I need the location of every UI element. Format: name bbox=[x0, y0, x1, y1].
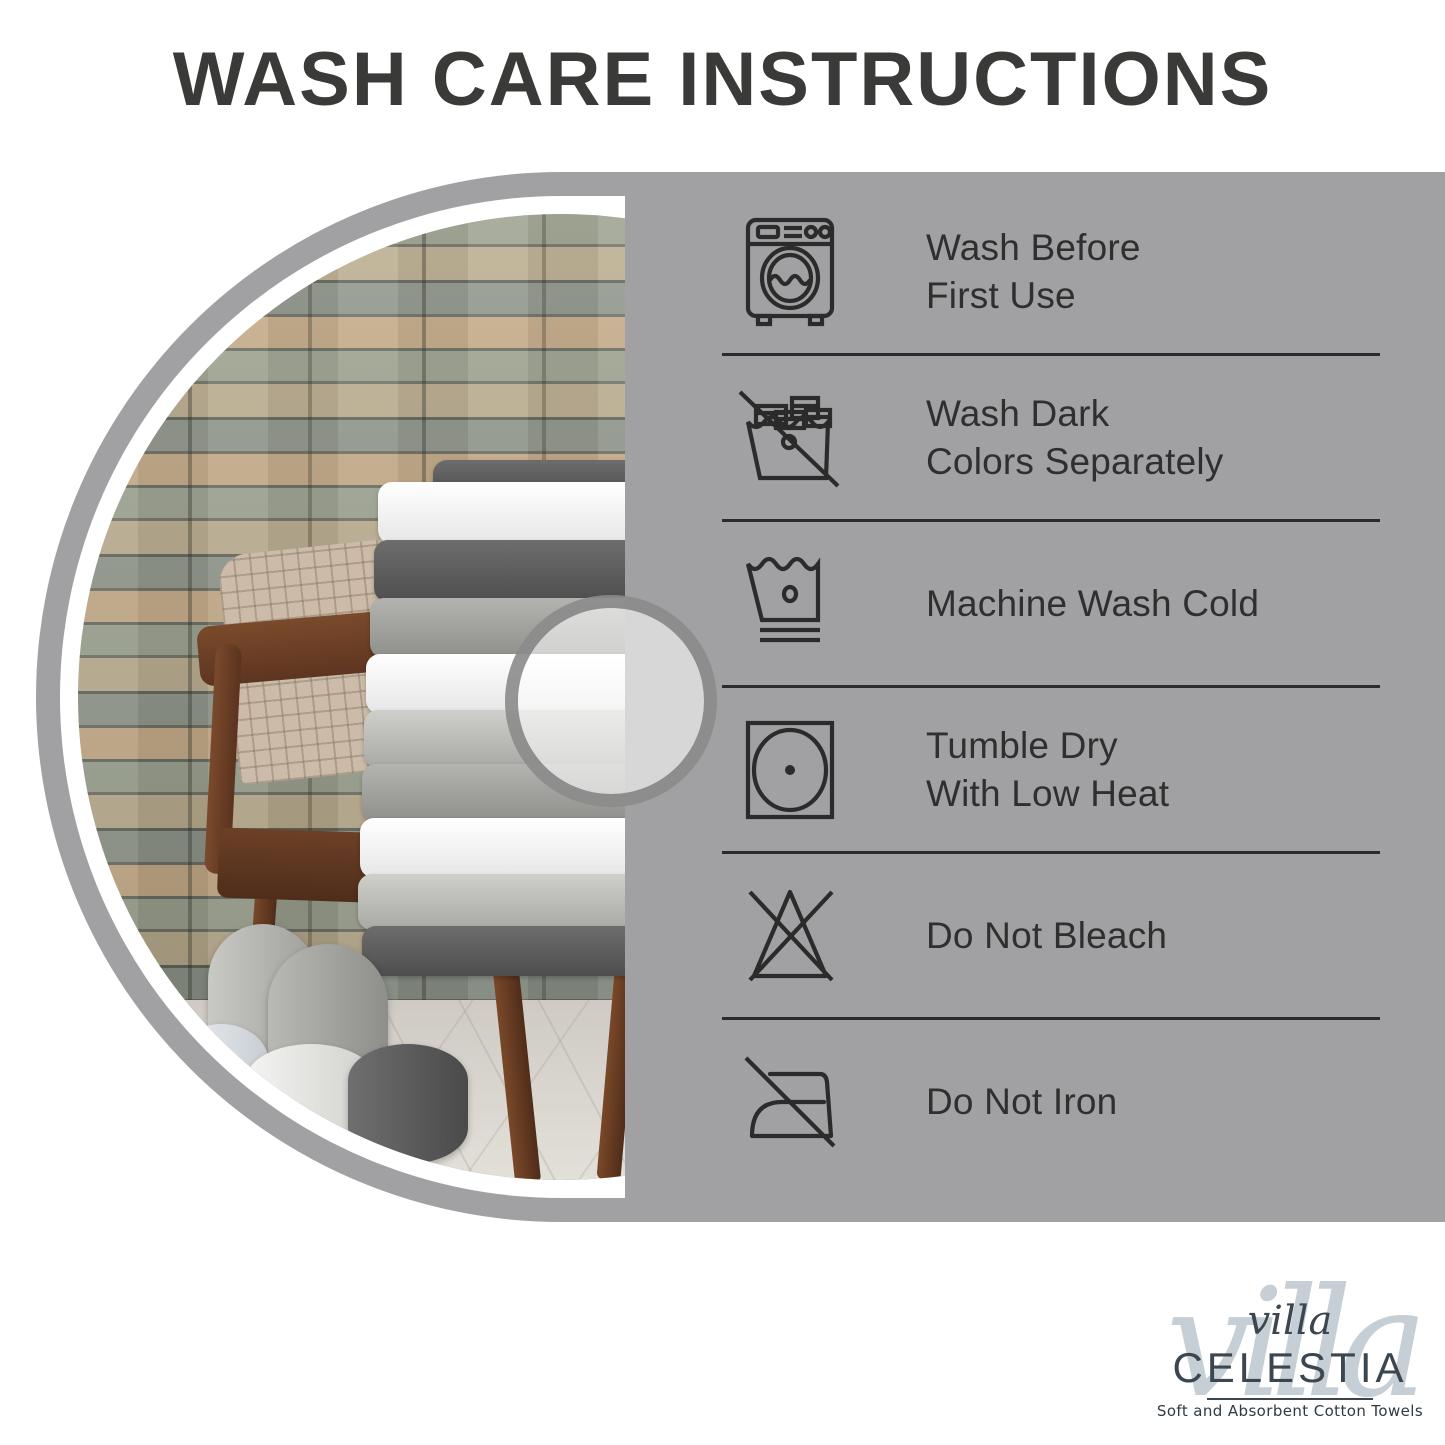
instruction-label: Machine Wash Cold bbox=[864, 580, 1259, 627]
logo-divider bbox=[1207, 1398, 1373, 1400]
label-line: With Low Heat bbox=[926, 770, 1169, 817]
do-not-bleach-icon bbox=[716, 882, 864, 990]
instruction-label: Do Not Bleach bbox=[864, 912, 1167, 959]
page-title: WASH CARE INSTRUCTIONS bbox=[0, 42, 1445, 118]
machine-wash-cold-icon bbox=[716, 554, 864, 654]
instruction-row-machine-wash-cold[interactable]: Machine Wash Cold bbox=[716, 532, 1384, 675]
washing-machine-icon bbox=[716, 216, 864, 328]
label-line: First Use bbox=[926, 272, 1141, 319]
label-line: Do Not Bleach bbox=[926, 912, 1167, 959]
instruction-label: Tumble Dry With Low Heat bbox=[864, 722, 1169, 817]
magnifier-bubble-icon bbox=[505, 595, 717, 807]
instruction-row-do-not-bleach[interactable]: Do Not Bleach bbox=[716, 864, 1384, 1007]
logo-script-villa: villa bbox=[1145, 1298, 1435, 1344]
instruction-list: Wash Before First Use bbox=[716, 200, 1384, 1173]
row-divider bbox=[722, 1017, 1380, 1020]
instruction-row-tumble-dry-low-heat[interactable]: Tumble Dry With Low Heat bbox=[716, 698, 1384, 841]
instruction-label: Do Not Iron bbox=[864, 1078, 1117, 1125]
brand-logo: villa villa CELESTIA Soft and Absorbent … bbox=[1145, 1252, 1435, 1437]
logo-tagline: Soft and Absorbent Cotton Towels bbox=[1145, 1402, 1435, 1420]
row-divider bbox=[722, 353, 1380, 356]
label-line: Do Not Iron bbox=[926, 1078, 1117, 1125]
tumble-dry-low-heat-icon bbox=[716, 717, 864, 823]
label-line: Wash Dark bbox=[926, 390, 1224, 437]
wash-care-instructions-page: WASH CARE INSTRUCTIONS bbox=[0, 0, 1445, 1445]
row-divider bbox=[722, 519, 1380, 522]
towel-rolled bbox=[348, 1044, 468, 1164]
instruction-label: Wash Before First Use bbox=[864, 224, 1141, 319]
no-mixed-wash-basin-icon bbox=[716, 386, 864, 490]
label-line: Wash Before bbox=[926, 224, 1141, 271]
instruction-row-wash-before-first-use[interactable]: Wash Before First Use bbox=[716, 200, 1384, 343]
label-line: Machine Wash Cold bbox=[926, 580, 1259, 627]
instruction-label: Wash Dark Colors Separately bbox=[864, 390, 1224, 485]
instruction-row-do-not-iron[interactable]: Do Not Iron bbox=[716, 1030, 1384, 1173]
row-divider bbox=[722, 685, 1380, 688]
do-not-iron-icon bbox=[716, 1050, 864, 1154]
logo-brand-name: CELESTIA bbox=[1145, 1344, 1435, 1392]
label-line: Colors Separately bbox=[926, 438, 1224, 485]
row-divider bbox=[722, 851, 1380, 854]
instruction-row-wash-dark-colors-separately[interactable]: Wash Dark Colors Separately bbox=[716, 366, 1384, 509]
label-line: Tumble Dry bbox=[926, 722, 1169, 769]
